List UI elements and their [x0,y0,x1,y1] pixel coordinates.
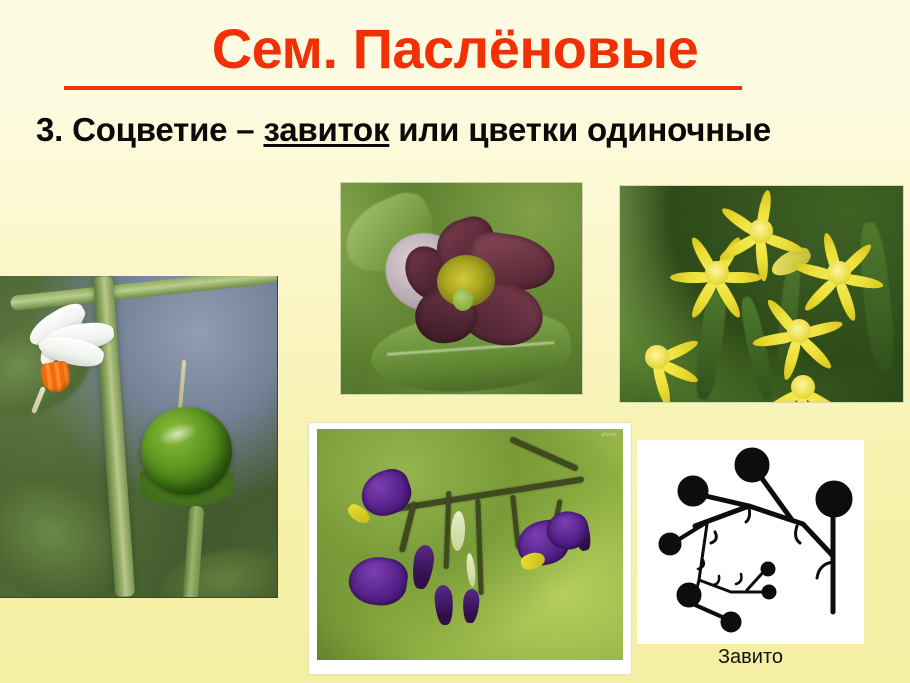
page-title: Сем. Паслёновые [0,20,910,79]
photo-background: photo [317,429,623,660]
photo-nightshade-white [0,276,278,598]
flower-ovary [453,289,473,311]
photo-belladonna [340,182,583,395]
branch-shape [509,436,579,472]
green-berry [141,407,232,495]
photo-tomato-yellow [619,185,904,403]
pedicel-shape [475,499,483,595]
body-text-before: Соцветие – [63,111,263,148]
flower-bud [410,544,436,590]
body-text-after: или цветки одиночные [389,111,771,148]
body-text: 3. Соцветие – завиток или цветки одиночн… [36,108,836,152]
slide-canvas: Сем. Паслёновые 3. Соцветие – завиток ил… [0,0,910,683]
title-underline [64,86,742,90]
flower-bud [465,553,477,588]
photo-watermark: photo [602,432,617,438]
purple-flower [346,553,410,609]
photo-nightshade-purple: photo [308,422,632,675]
flower-bud [434,584,455,625]
flower-bud [462,588,480,623]
body-number: 3. [36,111,63,148]
underlined-term: завиток [263,111,389,148]
flower-bud [450,511,465,551]
cyme-inflorescence-diagram [637,440,864,644]
diagram-caption: Завито [637,646,864,668]
